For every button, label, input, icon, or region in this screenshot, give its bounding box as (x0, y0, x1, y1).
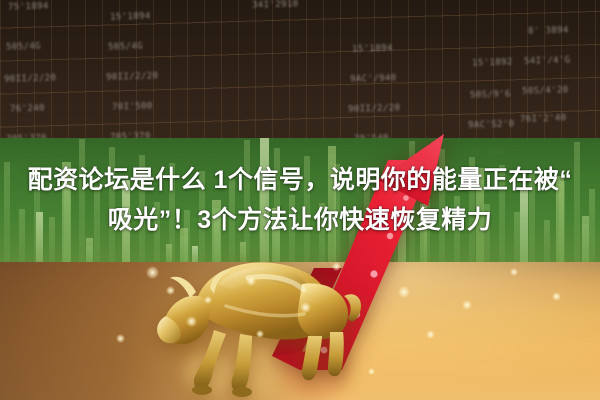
headline-line-1: 配资论坛是什么 1个信号，说明你的能量正在被“ (0, 160, 600, 200)
headline-text: 配资论坛是什么 1个信号，说明你的能量正在被“ 吸光”！3个方法让你快速恢复精力 (0, 160, 600, 240)
banner-image: 75'1894505/4G90II/2/2076'240705'37030' 0… (0, 0, 600, 400)
headline-line-2: 吸光”！3个方法让你快速恢复精力 (0, 200, 600, 240)
golden-bull-statue (152, 232, 372, 397)
